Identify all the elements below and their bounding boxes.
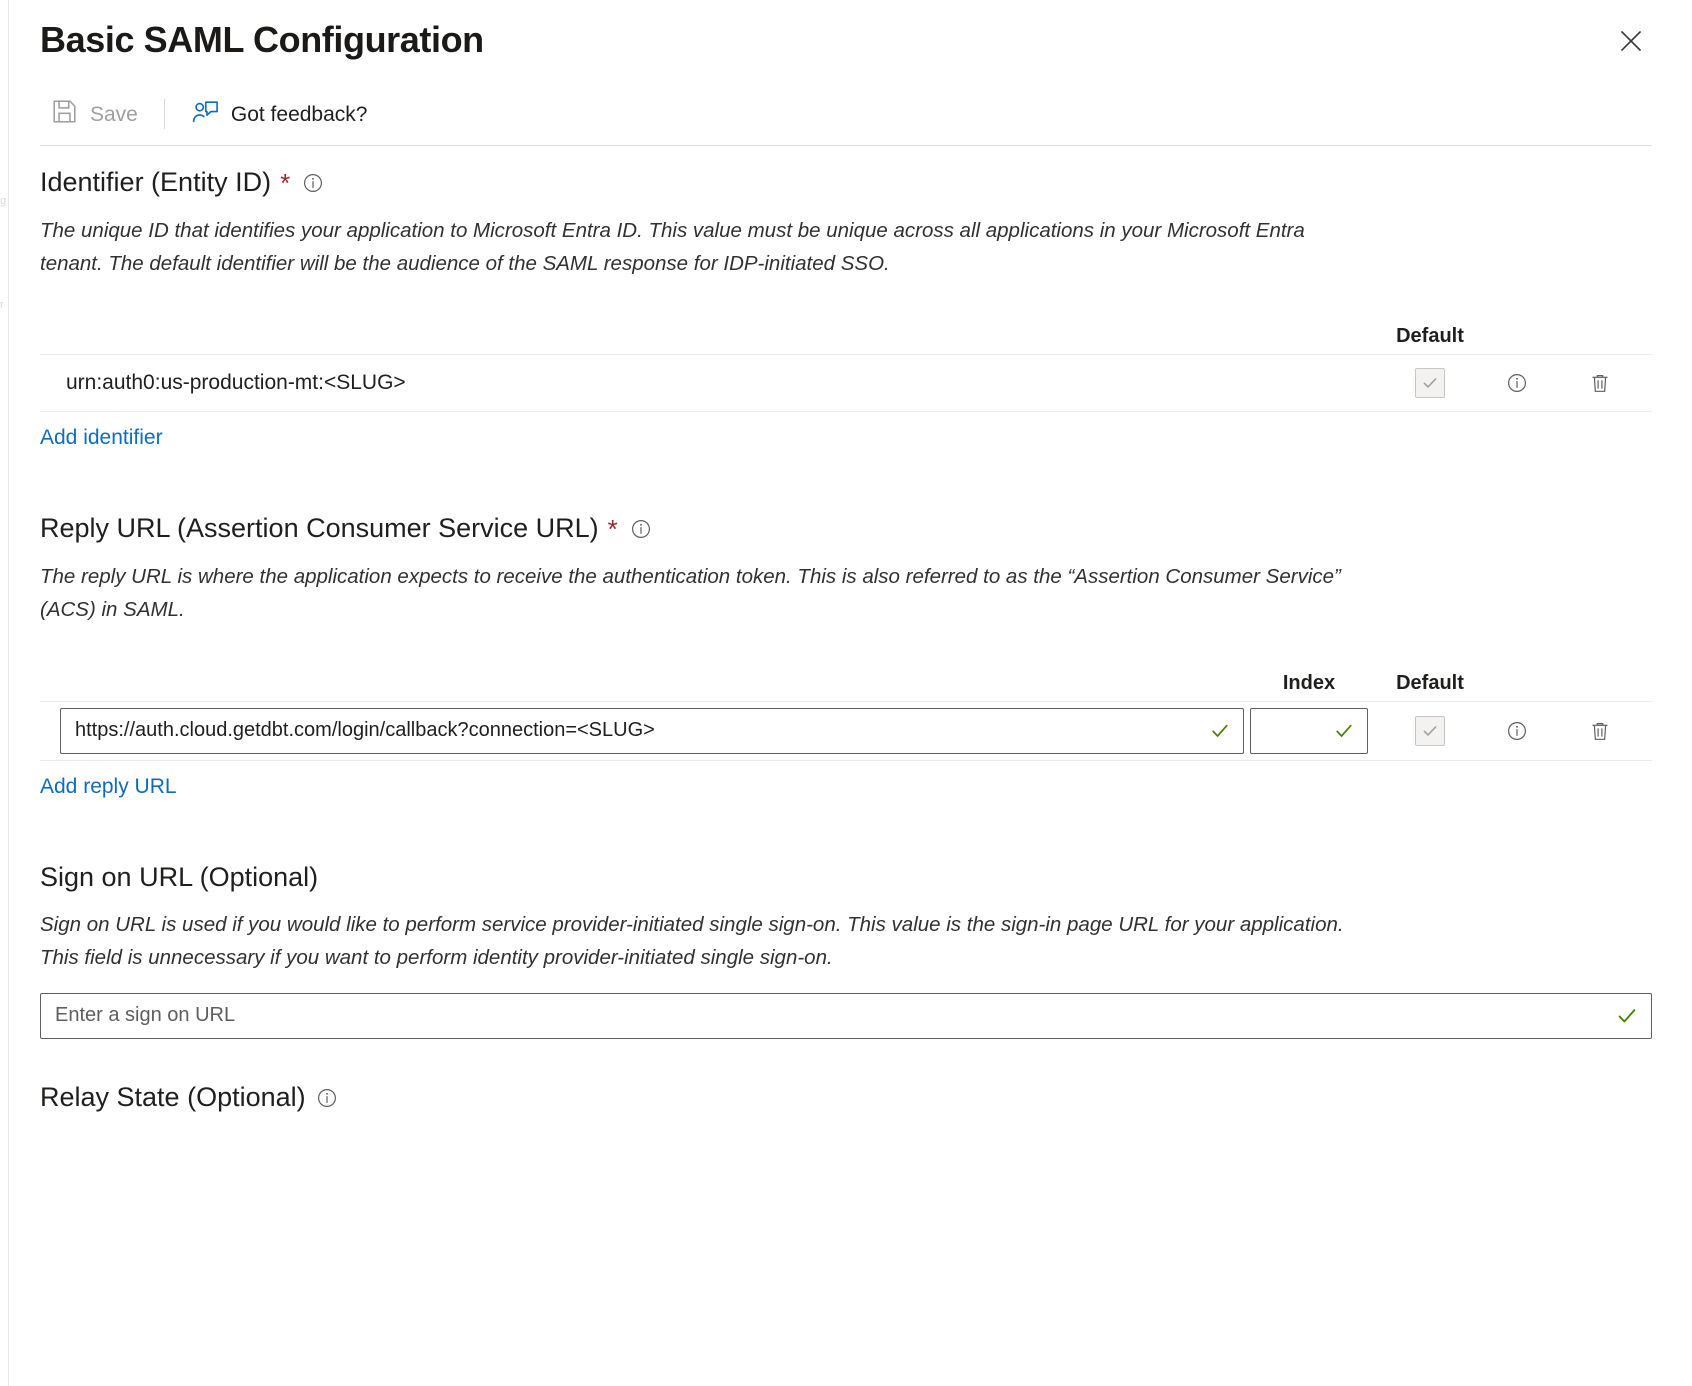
section-sign-on-url: Sign on URL (Optional) Sign on URL is us… (40, 799, 1652, 1039)
trash-icon[interactable] (1583, 366, 1617, 400)
column-header-default: Default (1374, 672, 1486, 695)
reply-url-field[interactable] (60, 708, 1244, 754)
identifier-description: The unique ID that identifies your appli… (40, 214, 1370, 280)
reply-url-heading-text: Reply URL (Assertion Consumer Service UR… (40, 512, 599, 546)
identifier-value: urn:auth0:us-production-mt:<SLUG> (40, 357, 1374, 409)
identifier-grid: Default urn:auth0:us-production-mt:<SLUG… (40, 310, 1652, 450)
section-relay-state: Relay State (Optional) (40, 1039, 1652, 1115)
valid-check-icon (1615, 1004, 1651, 1028)
background-text-fragment: g (0, 196, 7, 207)
background-panel-edge (8, 0, 9, 1386)
close-icon-glyph (1616, 26, 1646, 56)
info-icon[interactable] (629, 517, 653, 541)
background-text-fragment: r (0, 300, 7, 311)
identifier-heading-text: Identifier (Entity ID) (40, 166, 271, 200)
close-icon[interactable] (1612, 22, 1650, 60)
identifier-heading: Identifier (Entity ID) * (40, 166, 1652, 200)
default-checkbox (1415, 368, 1445, 398)
panel-header: Basic SAML Configuration (0, 0, 1692, 61)
panel-body: Identifier (Entity ID) * The unique ID t… (0, 146, 1692, 1114)
reply-url-grid: Index Default (40, 657, 1652, 799)
default-checkbox (1415, 716, 1445, 746)
page-title: Basic SAML Configuration (40, 18, 1652, 61)
valid-check-icon (1209, 720, 1243, 742)
save-floppy-icon (50, 97, 79, 131)
index-input[interactable] (1251, 709, 1333, 753)
reply-url-input[interactable] (61, 709, 1209, 753)
identifier-grid-header: Default (40, 310, 1652, 354)
got-feedback-button[interactable]: Got feedback? (181, 92, 378, 136)
sign-on-url-heading: Sign on URL (Optional) (40, 861, 1652, 895)
person-feedback-icon (191, 97, 220, 131)
table-row (40, 701, 1652, 761)
info-icon[interactable] (315, 1086, 339, 1110)
sign-on-url-description: Sign on URL is used if you would like to… (40, 908, 1370, 974)
required-asterisk: * (608, 513, 618, 546)
save-label: Save (90, 104, 138, 125)
info-icon[interactable] (1500, 714, 1534, 748)
section-reply-url: Reply URL (Assertion Consumer Service UR… (40, 450, 1652, 798)
save-button[interactable]: Save (40, 92, 148, 136)
sign-on-url-heading-text: Sign on URL (Optional) (40, 861, 318, 895)
info-icon[interactable] (1500, 366, 1534, 400)
sign-on-url-field[interactable] (40, 993, 1652, 1039)
add-identifier-link[interactable]: Add identifier (40, 426, 163, 450)
column-header-index: Index (1244, 672, 1374, 695)
required-asterisk: * (280, 167, 290, 200)
reply-url-heading: Reply URL (Assertion Consumer Service UR… (40, 512, 1652, 546)
command-bar: Save Got feedback? (0, 83, 1692, 145)
trash-icon[interactable] (1583, 714, 1617, 748)
got-feedback-label: Got feedback? (231, 104, 368, 125)
relay-state-heading: Relay State (Optional) (40, 1081, 1652, 1115)
info-icon[interactable] (301, 171, 325, 195)
index-field[interactable] (1250, 708, 1368, 754)
valid-check-icon (1333, 720, 1367, 742)
section-identifier: Identifier (Entity ID) * The unique ID t… (40, 146, 1652, 450)
sign-on-url-input[interactable] (41, 994, 1615, 1038)
reply-url-description: The reply URL is where the application e… (40, 560, 1370, 626)
table-row: urn:auth0:us-production-mt:<SLUG> (40, 354, 1652, 412)
relay-state-heading-text: Relay State (Optional) (40, 1081, 306, 1115)
column-header-default: Default (1374, 325, 1486, 348)
reply-url-grid-header: Index Default (40, 657, 1652, 701)
add-reply-url-link[interactable]: Add reply URL (40, 775, 177, 799)
toolbar-divider (164, 99, 165, 129)
